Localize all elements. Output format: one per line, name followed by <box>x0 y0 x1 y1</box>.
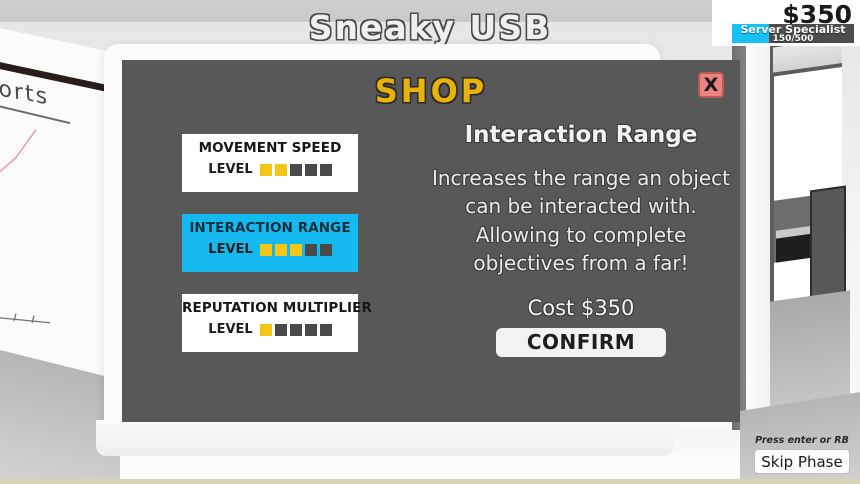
skip-phase-button[interactable]: Skip Phase <box>754 449 850 474</box>
upgrade-list: MOVEMENT SPEED LEVEL INTERACTION RANGE L… <box>182 134 358 374</box>
level-pip <box>260 324 272 336</box>
level-pips <box>260 324 332 336</box>
whiteboard-axis-icon <box>0 304 52 335</box>
level-pip <box>320 244 332 256</box>
confirm-button[interactable]: CONFIRM <box>496 328 666 357</box>
level-pip <box>305 324 317 336</box>
upgrade-level-row: LEVEL <box>182 242 358 257</box>
upgrade-name: INTERACTION RANGE <box>182 220 358 236</box>
upgrade-name: MOVEMENT SPEED <box>182 140 358 156</box>
level-pip <box>290 164 302 176</box>
level-pip <box>320 324 332 336</box>
level-label: LEVEL <box>208 162 252 177</box>
level-pip <box>290 244 302 256</box>
shop-title: SHOP <box>122 72 740 110</box>
whiteboard-red-graph-icon <box>0 115 78 200</box>
upgrade-detail-pane: Interaction Range Increases the range an… <box>422 122 740 357</box>
laptop-base <box>96 420 674 456</box>
shop-panel: SHOP X MOVEMENT SPEED LEVEL INTERACTION … <box>122 60 740 422</box>
office-doorway <box>770 28 852 438</box>
level-pips <box>260 164 332 176</box>
level-pip <box>275 164 287 176</box>
bottom-trim-strip <box>0 479 860 484</box>
level-pip <box>320 164 332 176</box>
detail-cost: Cost $350 <box>422 296 740 320</box>
level-label: LEVEL <box>208 322 252 337</box>
office-interior-floor <box>770 290 850 411</box>
close-icon[interactable]: X <box>698 72 724 98</box>
detail-title: Interaction Range <box>422 122 740 148</box>
level-pip <box>290 324 302 336</box>
level-label: LEVEL <box>208 242 252 257</box>
whiteboard-text: Ports <box>0 74 49 111</box>
hud-top-right: $350 Server Specialist 150/500 <box>712 0 860 46</box>
level-pip <box>305 244 317 256</box>
skip-phase-group: Press enter or RB Skip Phase <box>754 435 850 474</box>
level-pip <box>305 164 317 176</box>
level-pip <box>260 244 272 256</box>
detail-description: Increases the range an object can be int… <box>422 164 740 278</box>
level-pip <box>275 324 287 336</box>
level-pip <box>275 244 287 256</box>
upgrade-card-interaction-range[interactable]: INTERACTION RANGE LEVEL <box>182 214 358 272</box>
upgrade-card-movement-speed[interactable]: MOVEMENT SPEED LEVEL <box>182 134 358 192</box>
level-pip <box>260 164 272 176</box>
rank-progress-bar: Server Specialist 150/500 <box>732 24 854 43</box>
rank-progress-text: 150/500 <box>732 34 854 43</box>
level-pips <box>260 244 332 256</box>
upgrade-level-row: LEVEL <box>182 322 358 337</box>
skip-phase-hint: Press enter or RB <box>754 435 850 446</box>
upgrade-card-reputation-multiplier[interactable]: REPUTATION MULTIPLIER LEVEL <box>182 294 358 352</box>
upgrade-level-row: LEVEL <box>182 162 358 177</box>
upgrade-name: REPUTATION MULTIPLIER <box>182 300 358 316</box>
